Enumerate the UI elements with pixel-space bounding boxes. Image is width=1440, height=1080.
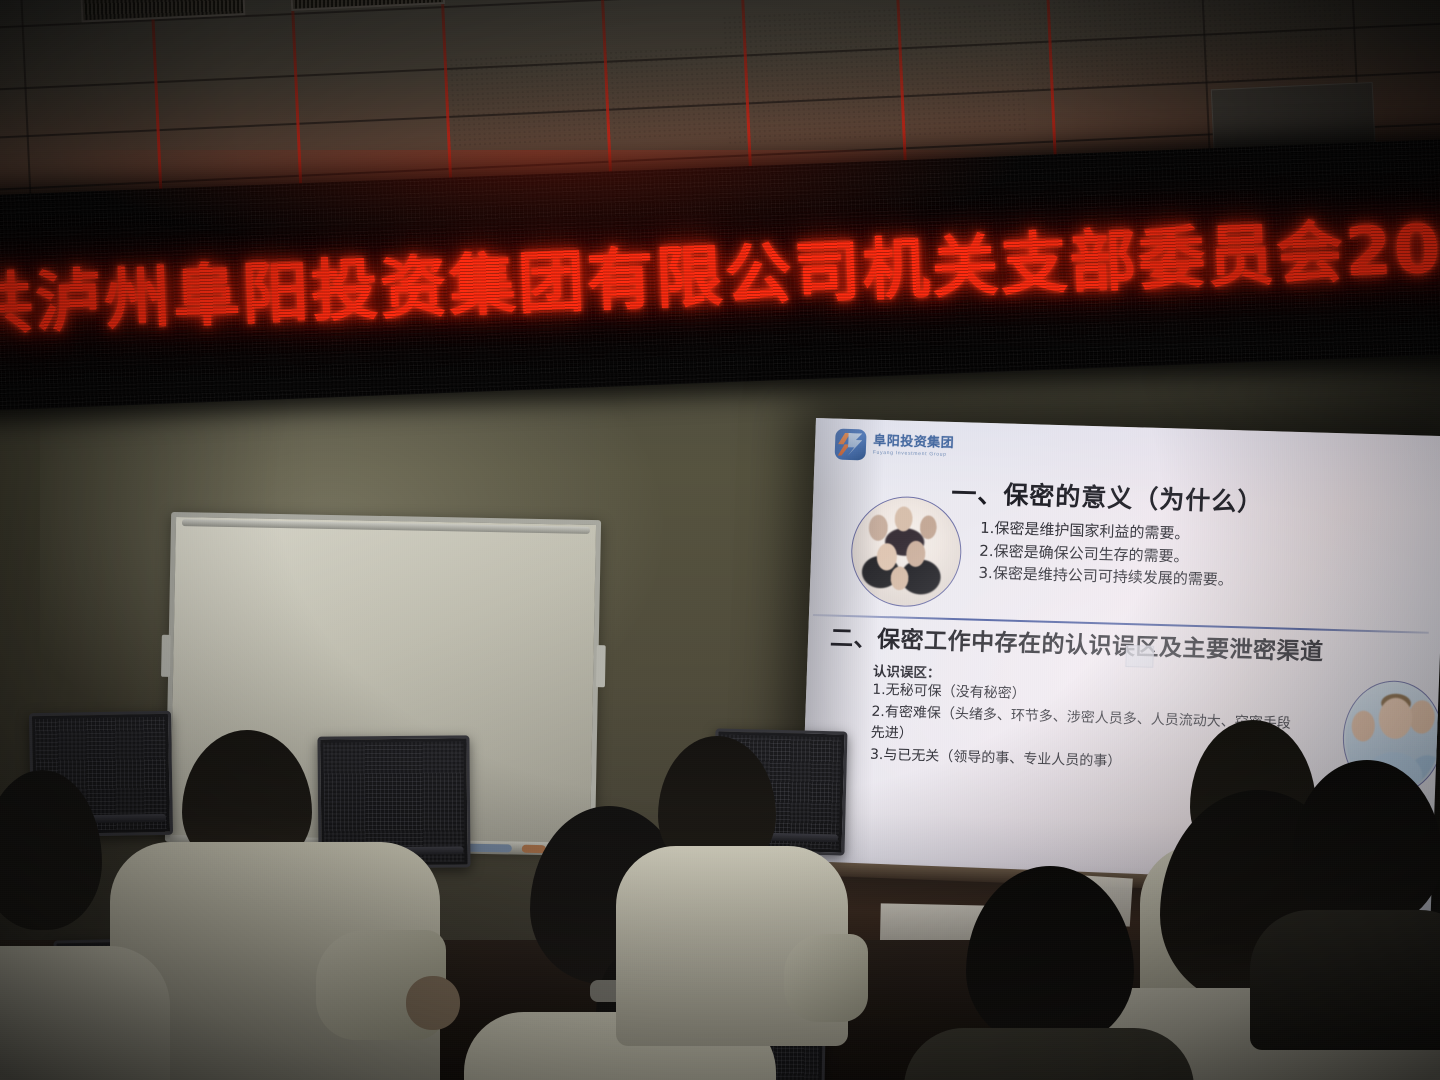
photo-content [857,502,956,601]
attendee-hand [406,976,460,1030]
section-one-bullets: 1.保密是维护国家利益的需要。 2.保密是确保公司生存的需要。 3.保密是维持公… [978,517,1430,597]
attendee-arm [784,934,868,1022]
meeting-room-photo: 共泸州阜阳投资集团有限公司机关支部委员会2019年6月固定党日 阜阳投资集团 F… [0,0,1440,1080]
attendee-foreground-center [930,866,1160,1080]
slide-watermark-box [1125,645,1154,668]
attendee-far-left [0,770,150,1080]
logo-name-en: Fuyang Investment Group [873,449,954,457]
team-cheering-photo [849,495,963,608]
attendee-head [1292,760,1440,928]
attendee-shoulders [0,946,170,1080]
slide-logo: 阜阳投资集团 Fuyang Investment Group [835,429,955,463]
attendee-shoulders [904,1028,1194,1080]
attendee-head [0,770,102,930]
logo-name-cn: 阜阳投资集团 [873,435,954,451]
section-one-title: 一、保密的意义（为什么） [951,474,1432,524]
company-logo-icon [835,429,867,461]
whiteboard-hinge [161,635,171,677]
attendee-head [966,866,1134,1048]
logo-text-block: 阜阳投资集团 Fuyang Investment Group [873,435,955,458]
attendee-shoulders [1250,910,1440,1050]
attendee-white-shirt-right [608,736,858,1036]
whiteboard-hinge [596,645,606,687]
attendee-right-edge [1270,760,1440,980]
